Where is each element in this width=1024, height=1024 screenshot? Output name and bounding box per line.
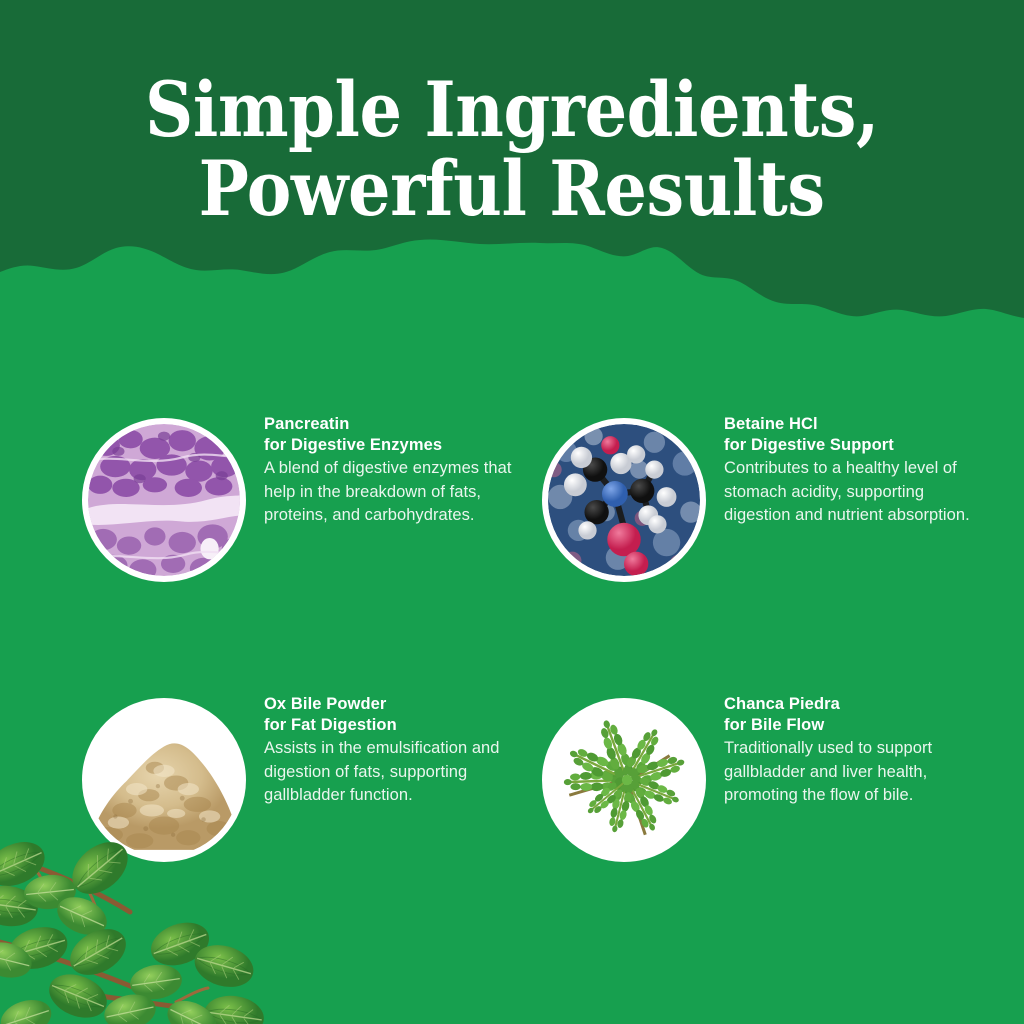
card-text: Ox Bile Powder for Fat Digestion Assists… <box>264 685 514 807</box>
ingredient-subtitle: for Bile Flow <box>724 715 974 736</box>
thumb-wrapper <box>542 418 706 582</box>
ingredient-card-betaine-hcl: Betaine HCl for Digestive Support Contri… <box>542 405 1002 685</box>
card-text: Betaine HCl for Digestive Support Contri… <box>724 405 974 527</box>
ingredient-description: Assists in the emulsification and digest… <box>264 737 514 807</box>
thumb-wrapper <box>542 698 706 862</box>
ingredient-card-pancreatin: Pancreatin for Digestive Enzymes A blend… <box>82 405 542 685</box>
ingredient-name: Chanca Piedra <box>724 694 974 715</box>
ingredient-name: Betaine HCl <box>724 414 974 435</box>
ingredients-grid: Pancreatin for Digestive Enzymes A blend… <box>0 405 1024 965</box>
ingredient-name: Ox Bile Powder <box>264 694 514 715</box>
thumb-wrapper <box>82 418 246 582</box>
ingredient-description: Contributes to a healthy level of stomac… <box>724 457 974 527</box>
pancreatin-micrograph-image <box>82 418 246 582</box>
ingredient-description: A blend of digestive enzymes that help i… <box>264 457 514 527</box>
ingredient-description: Traditionally used to support gallbladde… <box>724 737 974 807</box>
ingredient-subtitle: for Digestive Enzymes <box>264 435 514 456</box>
card-text: Pancreatin for Digestive Enzymes A blend… <box>264 405 514 527</box>
ox-bile-powder-image <box>82 698 246 862</box>
card-text: Chanca Piedra for Bile Flow Traditionall… <box>724 685 974 807</box>
ingredient-subtitle: for Fat Digestion <box>264 715 514 736</box>
header-torn-band <box>0 0 1024 360</box>
betaine-molecule-model-image <box>542 418 706 582</box>
ingredient-card-ox-bile-powder: Ox Bile Powder for Fat Digestion Assists… <box>82 685 542 965</box>
ingredient-card-chanca-piedra: Chanca Piedra for Bile Flow Traditionall… <box>542 685 1002 965</box>
chanca-piedra-plant-image <box>542 698 706 862</box>
thumb-wrapper <box>82 698 246 862</box>
ingredient-subtitle: for Digestive Support <box>724 435 974 456</box>
ingredient-name: Pancreatin <box>264 414 514 435</box>
ingredient-infographic-poster: Simple Ingredients, Powerful Results <box>0 0 1024 1024</box>
